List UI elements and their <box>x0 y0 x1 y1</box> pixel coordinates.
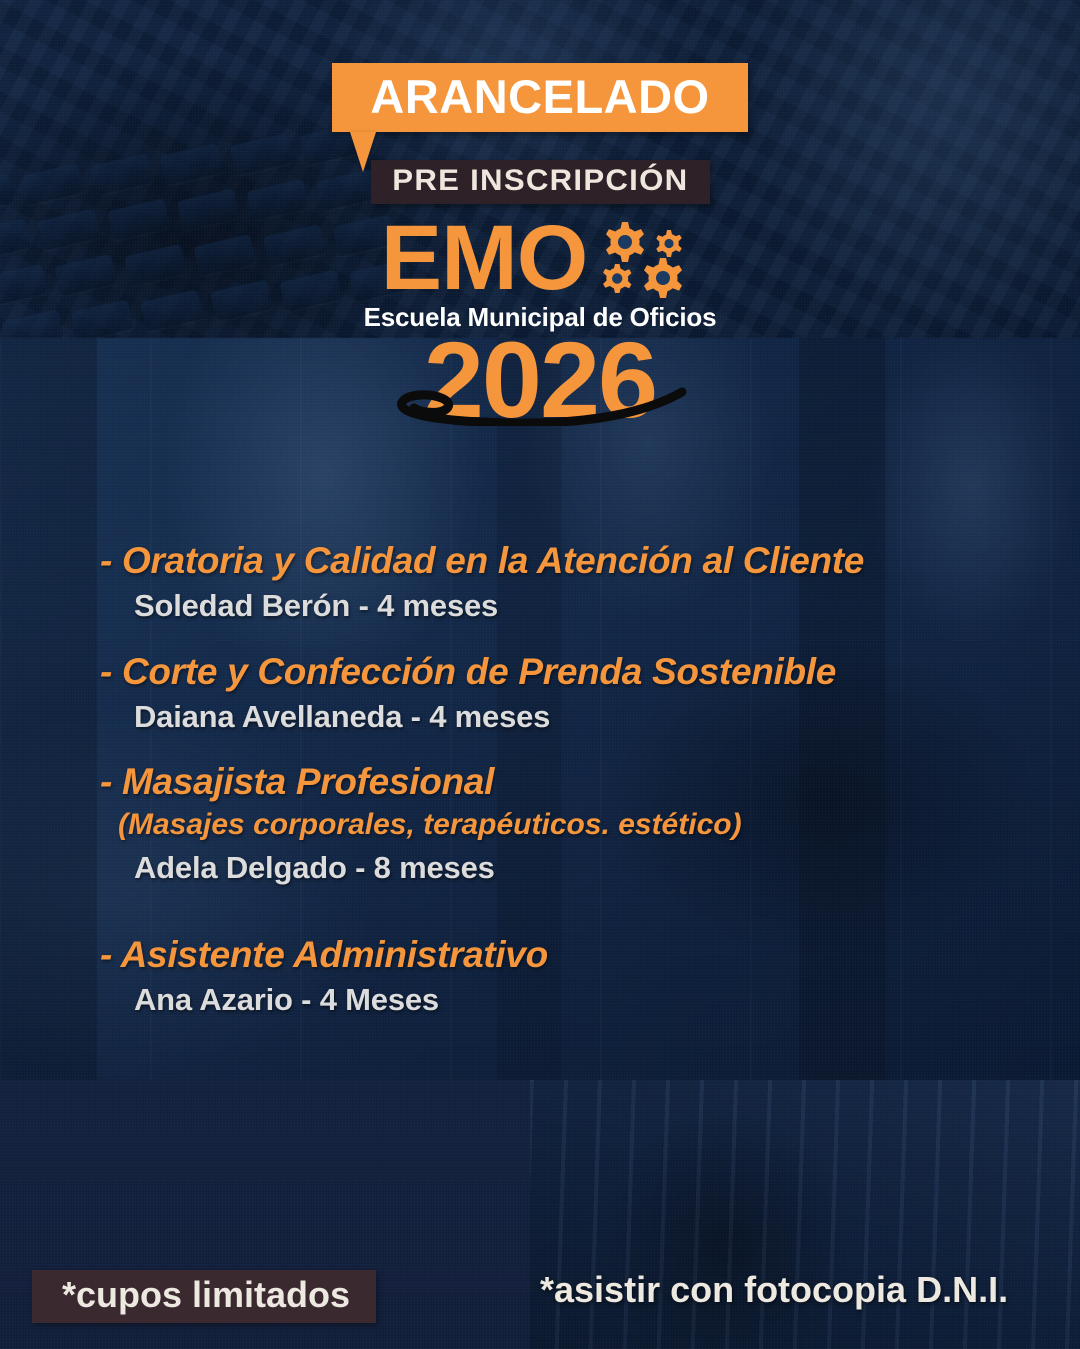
pre-inscripcion-bar: PRE INSCRIPCIÓN <box>371 160 710 204</box>
gears-icon <box>589 208 699 309</box>
emo-logo: EMO <box>0 208 1080 309</box>
arancelado-label: ARANCELADO <box>370 70 709 123</box>
arancelado-banner-box: ARANCELADO <box>332 63 748 132</box>
course-title: - Oratoria y Calidad en la Atención al C… <box>100 540 1020 581</box>
dni-copy-label: *asistir con fotocopia D.N.I. <box>540 1269 1008 1310</box>
course-item: - Masajista Profesional (Masajes corpora… <box>100 761 1020 886</box>
course-meta: Daiana Avellaneda - 4 meses <box>134 698 1020 735</box>
course-item: - Corte y Confección de Prenda Sostenibl… <box>100 651 1020 736</box>
course-title: - Corte y Confección de Prenda Sostenibl… <box>100 651 1020 692</box>
course-title: - Asistente Administrativo <box>100 934 1020 975</box>
course-item: - Asistente Administrativo Ana Azario - … <box>100 934 1020 1019</box>
limited-spots-label: *cupos limitados <box>62 1274 350 1315</box>
course-meta: Soledad Berón - 4 meses <box>134 587 1020 624</box>
course-note: (Masajes corporales, terapéuticos. estét… <box>118 807 1020 843</box>
course-item: - Oratoria y Calidad en la Atención al C… <box>100 540 1020 625</box>
course-title: - Masajista Profesional <box>100 761 1020 802</box>
dni-copy-note: *asistir con fotocopia D.N.I. <box>540 1272 1008 1308</box>
limited-spots-note: *cupos limitados <box>32 1270 376 1323</box>
poster: ARANCELADO PRE INSCRIPCIÓN EMO <box>0 0 1080 1349</box>
underline-squiggle-icon <box>390 374 690 431</box>
course-meta: Ana Azario - 4 Meses <box>134 981 1020 1018</box>
course-meta: Adela Delgado - 8 meses <box>134 849 1020 886</box>
poster-content: ARANCELADO PRE INSCRIPCIÓN EMO <box>0 0 1080 1349</box>
pre-inscripcion-label: PRE INSCRIPCIÓN <box>392 166 688 196</box>
course-list: - Oratoria y Calidad en la Atención al C… <box>100 540 1020 1045</box>
emo-logo-text: EMO <box>381 217 588 300</box>
arancelado-banner: ARANCELADO <box>332 63 748 132</box>
